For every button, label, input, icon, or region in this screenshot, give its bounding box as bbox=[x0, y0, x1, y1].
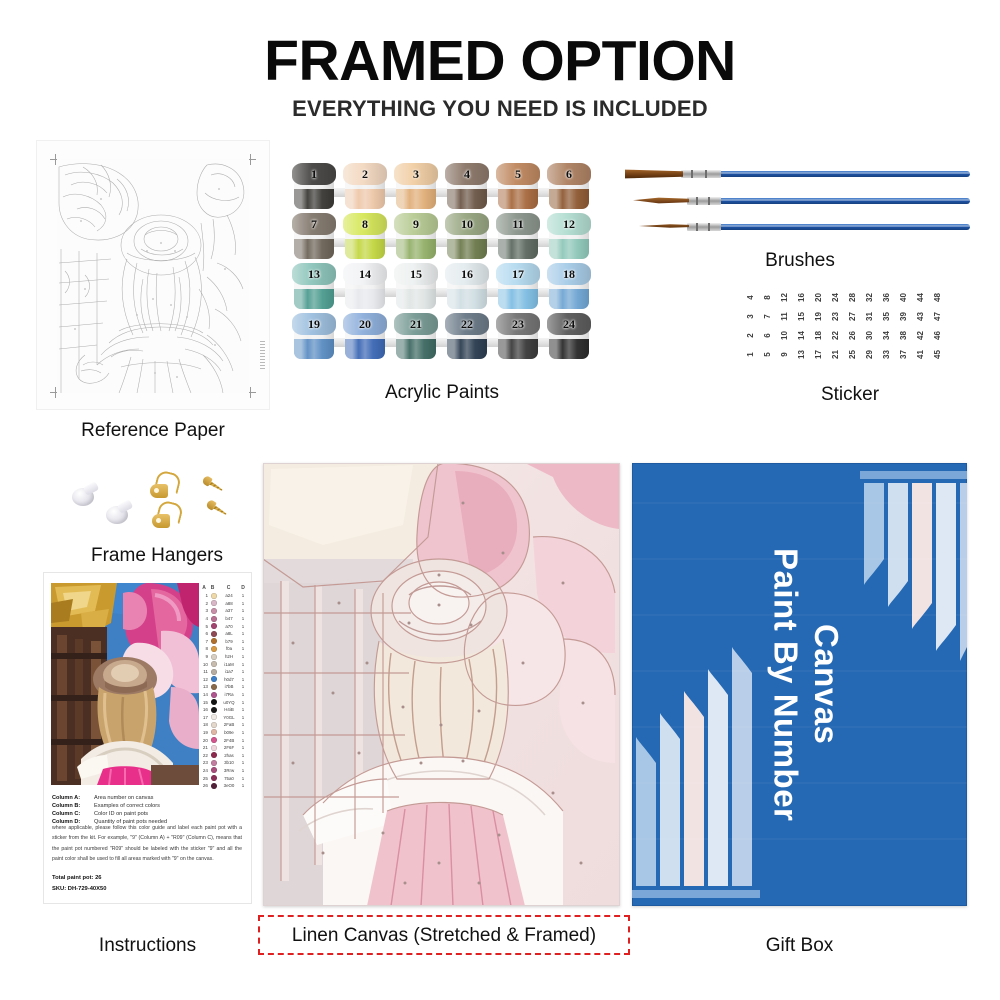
paint-pot-paint bbox=[294, 239, 334, 259]
instructions-reference-photo bbox=[51, 583, 199, 785]
sticker-caption: Sticker bbox=[790, 384, 910, 406]
paint-pot-paint bbox=[396, 189, 436, 209]
legend-row: 16H4iB1 bbox=[200, 706, 246, 714]
paint-pot-strip bbox=[296, 338, 588, 347]
paint-pot-number: 9 bbox=[394, 213, 438, 235]
legend-color-id: u0YQ bbox=[218, 700, 240, 705]
legend-col-a-header: A bbox=[200, 585, 208, 591]
infographic-canvas: FRAMED OPTION EVERYTHING YOU NEED IS INC… bbox=[0, 0, 1000, 1000]
legend-area-number: 9 bbox=[200, 654, 209, 659]
legend-row: 5a701 bbox=[200, 622, 246, 630]
page-subtitle: EVERYTHING YOU NEED IS INCLUDED bbox=[0, 96, 1000, 122]
legend-row: 14i7Ra1 bbox=[200, 691, 246, 699]
legend-quantity: 1 bbox=[240, 631, 246, 636]
legend-swatch-cell bbox=[209, 783, 218, 789]
paint-pot-paint bbox=[345, 289, 385, 309]
sticker-column: 5678 bbox=[759, 288, 776, 364]
sticker-column: 1234 bbox=[742, 288, 759, 364]
legend-color-id: a24 bbox=[218, 593, 240, 598]
legend-swatch-cell bbox=[209, 752, 218, 758]
paint-pot-strip bbox=[296, 188, 588, 197]
legend-area-number: 5 bbox=[200, 624, 209, 629]
paint-pot-20: 20 bbox=[343, 313, 387, 361]
paint-pot-paint bbox=[549, 339, 589, 359]
paint-pot-number: 21 bbox=[394, 313, 438, 335]
legend-swatch-cell bbox=[209, 729, 218, 735]
paint-pot-8: 8 bbox=[343, 213, 387, 261]
legend-row: 4b471 bbox=[200, 615, 246, 623]
paint-pot-row: 131415161718 bbox=[292, 263, 592, 313]
legend-quantity: 1 bbox=[240, 646, 246, 651]
legend-color-id: 75a0 bbox=[218, 776, 240, 781]
reference-sheet-code bbox=[260, 341, 265, 371]
legend-color-id: Y0GL bbox=[218, 715, 240, 720]
legend-row: 243Rrw1 bbox=[200, 767, 246, 775]
wall-plug bbox=[72, 484, 98, 506]
legend-row: 222has1 bbox=[200, 751, 246, 759]
brush-round-fine bbox=[625, 221, 970, 233]
paint-pot-number: 24 bbox=[547, 313, 591, 335]
legend-swatch-cell bbox=[209, 737, 218, 743]
legend-color-id: h0d7 bbox=[218, 677, 240, 682]
legend-quantity: 1 bbox=[240, 669, 246, 674]
paint-pot-number: 6 bbox=[547, 163, 591, 185]
legend-swatch-cell bbox=[209, 745, 218, 751]
legend-color-swatch bbox=[211, 707, 217, 713]
legend-color-swatch bbox=[211, 638, 217, 644]
paint-pot-15: 15 bbox=[394, 263, 438, 311]
screw bbox=[201, 475, 224, 494]
paint-pot-strip bbox=[296, 288, 588, 297]
legend-row: 263eO01 bbox=[200, 782, 246, 790]
paint-pot-17: 17 bbox=[496, 263, 540, 311]
legend-color-swatch bbox=[211, 623, 217, 629]
legend-color-id: 2FaB bbox=[218, 722, 240, 727]
legend-quantity: 1 bbox=[240, 745, 246, 750]
paint-pot-10: 10 bbox=[445, 213, 489, 261]
total-paint-pots: Total paint pot: 26 bbox=[52, 873, 242, 884]
paint-pot-paint bbox=[549, 239, 589, 259]
column-definition-label: Column C: bbox=[52, 811, 94, 817]
brush-round-medium bbox=[625, 195, 970, 207]
paint-pot-21: 21 bbox=[394, 313, 438, 361]
paint-pot-paint bbox=[345, 239, 385, 259]
legend-area-number: 6 bbox=[200, 631, 209, 636]
legend-row: 2a881 bbox=[200, 600, 246, 608]
legend-area-number: 2 bbox=[200, 601, 209, 606]
paint-pot-number: 5 bbox=[496, 163, 540, 185]
legend-area-number: 10 bbox=[200, 662, 209, 667]
legend-swatch-cell bbox=[209, 676, 218, 682]
legend-quantity: 1 bbox=[240, 654, 246, 659]
legend-color-id: 3eO0 bbox=[218, 783, 240, 788]
legend-quantity: 1 bbox=[240, 707, 246, 712]
legend-col-b-header: B bbox=[208, 585, 217, 591]
brushes-caption: Brushes bbox=[740, 250, 860, 272]
legend-area-number: 17 bbox=[200, 715, 209, 720]
sticker-column: 13141516 bbox=[793, 288, 810, 364]
paint-pot-9: 9 bbox=[394, 213, 438, 261]
legend-row: 182FaB1 bbox=[200, 721, 246, 729]
paint-pot-row: 123456 bbox=[292, 163, 592, 213]
paint-pot-number: 4 bbox=[445, 163, 489, 185]
legend-row: 19b09e1 bbox=[200, 729, 246, 737]
legend-color-swatch bbox=[211, 760, 217, 766]
legend-area-number: 20 bbox=[200, 738, 209, 743]
column-definition-text: Examples of correct colors bbox=[94, 803, 160, 809]
legend-area-number: 21 bbox=[200, 745, 209, 750]
legend-swatch-cell bbox=[209, 760, 218, 766]
legend-area-number: 23 bbox=[200, 760, 209, 765]
legend-row: 10i1aM1 bbox=[200, 660, 246, 668]
paint-pot-number: 16 bbox=[445, 263, 489, 285]
sticker-number: 47 bbox=[928, 308, 947, 325]
legend-color-swatch bbox=[211, 684, 217, 690]
legend-row: 12h0d71 bbox=[200, 676, 246, 684]
legend-color-swatch bbox=[211, 616, 217, 622]
paint-pot-paint bbox=[396, 239, 436, 259]
legend-area-number: 11 bbox=[200, 669, 209, 674]
sticker-number: 46 bbox=[928, 327, 947, 344]
legend-area-number: 8 bbox=[200, 646, 209, 651]
legend-color-swatch bbox=[211, 676, 217, 682]
acrylic-paints-group: 123456789101112131415161718192021222324 bbox=[292, 163, 592, 363]
paint-pot-paint bbox=[345, 189, 385, 209]
legend-quantity: 1 bbox=[240, 768, 246, 773]
legend-swatch-cell bbox=[209, 638, 218, 644]
instructions-sheet: A B C D 1a2412a8813a3714b4715a7016a8L17b… bbox=[44, 573, 251, 903]
legend-color-swatch bbox=[211, 767, 217, 773]
legend-color-swatch bbox=[211, 775, 217, 781]
sku-value: DH-729-40X50 bbox=[68, 886, 107, 892]
legend-color-id: i1a7 bbox=[218, 669, 240, 674]
legend-color-swatch bbox=[211, 608, 217, 614]
sticker-number: 48 bbox=[928, 289, 947, 306]
legend-swatch-cell bbox=[209, 654, 218, 660]
paint-pot-number: 23 bbox=[496, 313, 540, 335]
acrylic-paints-caption: Acrylic Paints bbox=[292, 382, 592, 404]
paint-pot-23: 23 bbox=[496, 313, 540, 361]
paint-pot-22: 22 bbox=[445, 313, 489, 361]
legend-quantity: 1 bbox=[240, 738, 246, 743]
sticker-column: 29303132 bbox=[861, 288, 878, 364]
sticker-column: 17181920 bbox=[810, 288, 827, 364]
legend-color-id: 2F4B bbox=[218, 738, 240, 743]
legend-row: 13i7bB1 bbox=[200, 683, 246, 691]
legend-color-id: 2F6F bbox=[218, 745, 240, 750]
paint-pot-number: 10 bbox=[445, 213, 489, 235]
paint-pot-5: 5 bbox=[496, 163, 540, 211]
paint-pot-1: 1 bbox=[292, 163, 336, 211]
gift-box-product: Canvas Paint By Number bbox=[632, 463, 967, 906]
legend-color-swatch bbox=[211, 692, 217, 698]
legend-color-id: H4iB bbox=[218, 707, 240, 712]
legend-color-swatch bbox=[211, 654, 217, 660]
paint-pot-number: 7 bbox=[292, 213, 336, 235]
sticker-column: 25262728 bbox=[844, 288, 861, 364]
paint-pot-3: 3 bbox=[394, 163, 438, 211]
paint-pot-paint bbox=[447, 239, 487, 259]
legend-color-id: 2has bbox=[218, 753, 240, 758]
legend-row: 212F6F1 bbox=[200, 744, 246, 752]
paint-pot-strip bbox=[296, 238, 588, 247]
paint-pot-number: 8 bbox=[343, 213, 387, 235]
legend-color-swatch bbox=[211, 783, 217, 789]
legend-swatch-cell bbox=[209, 646, 218, 652]
legend-color-swatch bbox=[211, 737, 217, 743]
paint-pot-paint bbox=[549, 189, 589, 209]
legend-color-swatch bbox=[211, 593, 217, 599]
linen-canvas-product bbox=[263, 463, 620, 906]
legend-swatch-cell bbox=[209, 767, 218, 773]
column-definition-row: Column C:Color ID on paint pots bbox=[52, 811, 244, 817]
legend-area-number: 25 bbox=[200, 776, 209, 781]
legend-area-number: 1 bbox=[200, 593, 209, 598]
paint-pot-paint bbox=[447, 189, 487, 209]
paint-pot-number: 12 bbox=[547, 213, 591, 235]
paint-pot-number: 3 bbox=[394, 163, 438, 185]
legend-color-swatch bbox=[211, 729, 217, 735]
legend-quantity: 1 bbox=[240, 608, 246, 613]
legend-quantity: 1 bbox=[240, 684, 246, 689]
paint-pot-24: 24 bbox=[547, 313, 591, 361]
crop-mark bbox=[250, 154, 251, 165]
crop-mark bbox=[55, 387, 56, 398]
legend-area-number: 26 bbox=[200, 783, 209, 788]
paint-pot-2: 2 bbox=[343, 163, 387, 211]
sticker-number: 45 bbox=[928, 346, 947, 363]
paint-pot-number: 15 bbox=[394, 263, 438, 285]
legend-swatch-cell bbox=[209, 714, 218, 720]
legend-row: 6a8L1 bbox=[200, 630, 246, 638]
legend-quantity: 1 bbox=[240, 624, 246, 629]
legend-swatch-cell bbox=[209, 692, 218, 698]
paint-pot-19: 19 bbox=[292, 313, 336, 361]
screw bbox=[205, 499, 228, 518]
legend-color-id: f0a bbox=[218, 646, 240, 651]
legend-swatch-cell bbox=[209, 616, 218, 622]
legend-quantity: 1 bbox=[240, 692, 246, 697]
paint-pot-number: 11 bbox=[496, 213, 540, 235]
paint-pot-number: 17 bbox=[496, 263, 540, 285]
legend-color-id: b79 bbox=[218, 639, 240, 644]
legend-color-id: 3Rrw bbox=[218, 768, 240, 773]
paint-pot-paint bbox=[294, 289, 334, 309]
sticker-column: 41424344 bbox=[912, 288, 929, 364]
legend-color-swatch bbox=[211, 714, 217, 720]
legend-header-row: A B C D bbox=[200, 583, 246, 592]
legend-color-swatch bbox=[211, 722, 217, 728]
legend-row: 15u0YQ1 bbox=[200, 698, 246, 706]
legend-color-swatch bbox=[211, 600, 217, 606]
paint-pot-11: 11 bbox=[496, 213, 540, 261]
legend-color-id: a8L bbox=[218, 631, 240, 636]
legend-area-number: 4 bbox=[200, 616, 209, 621]
legend-quantity: 1 bbox=[240, 760, 246, 765]
legend-swatch-cell bbox=[209, 775, 218, 781]
column-definition-text: Color ID on paint pots bbox=[94, 811, 148, 817]
instructions-color-legend: A B C D 1a2412a8813a3714b4715a7016a8L17b… bbox=[200, 583, 246, 789]
legend-swatch-cell bbox=[209, 593, 218, 599]
column-definition-text: Area number on canvas bbox=[94, 795, 153, 801]
frame-hangers-group bbox=[72, 470, 242, 536]
crop-mark bbox=[250, 387, 251, 398]
legend-quantity: 1 bbox=[240, 639, 246, 644]
legend-row: 11i1a71 bbox=[200, 668, 246, 676]
legend-quantity: 1 bbox=[240, 662, 246, 667]
legend-swatch-cell bbox=[209, 684, 218, 690]
legend-area-number: 15 bbox=[200, 700, 209, 705]
column-definition-row: Column B:Examples of correct colors bbox=[52, 803, 244, 809]
paint-pot-number: 19 bbox=[292, 313, 336, 335]
legend-color-id: a88 bbox=[218, 601, 240, 606]
sticker-column: 37383940 bbox=[895, 288, 912, 364]
legend-quantity: 1 bbox=[240, 722, 246, 727]
legend-swatch-cell bbox=[209, 722, 218, 728]
legend-area-number: 16 bbox=[200, 707, 209, 712]
legend-swatch-cell bbox=[209, 707, 218, 713]
legend-color-swatch bbox=[211, 752, 217, 758]
paint-pot-12: 12 bbox=[547, 213, 591, 261]
legend-color-id: i7bB bbox=[218, 684, 240, 689]
d-ring-hanger bbox=[152, 502, 182, 528]
legend-color-id: b09e bbox=[218, 730, 240, 735]
legend-color-id: h2H bbox=[218, 654, 240, 659]
legend-color-id: a37 bbox=[218, 608, 240, 613]
legend-area-number: 14 bbox=[200, 692, 209, 697]
legend-swatch-cell bbox=[209, 661, 218, 667]
instructions-paragraph: where applicable, please follow this col… bbox=[52, 823, 242, 865]
sticker-sheet: 1234567891011121314151617181920212223242… bbox=[742, 288, 947, 366]
legend-color-swatch bbox=[211, 631, 217, 637]
paint-pot-paint bbox=[396, 339, 436, 359]
paint-pot-paint bbox=[549, 289, 589, 309]
gift-box-caption: Gift Box bbox=[632, 935, 967, 957]
reference-paper-sheet bbox=[37, 141, 269, 409]
column-definition-row: Column A:Area number on canvas bbox=[52, 795, 244, 801]
reference-paper-caption: Reference Paper bbox=[37, 420, 269, 442]
linen-canvas-caption: Linen Canvas (Stretched & Framed) bbox=[258, 925, 630, 947]
paint-pot-paint bbox=[447, 339, 487, 359]
legend-quantity: 1 bbox=[240, 700, 246, 705]
legend-color-id: i7Ra bbox=[218, 692, 240, 697]
legend-quantity: 1 bbox=[240, 783, 246, 788]
paint-pot-4: 4 bbox=[445, 163, 489, 211]
legend-area-number: 12 bbox=[200, 677, 209, 682]
d-ring-hanger bbox=[150, 472, 180, 498]
paint-pot-number: 2 bbox=[343, 163, 387, 185]
legend-row: 3a371 bbox=[200, 607, 246, 615]
legend-area-number: 24 bbox=[200, 768, 209, 773]
legend-color-swatch bbox=[211, 646, 217, 652]
paint-pot-row: 192021222324 bbox=[292, 313, 592, 363]
legend-quantity: 1 bbox=[240, 753, 246, 758]
paint-pot-paint bbox=[498, 239, 538, 259]
legend-col-d-header: D bbox=[240, 585, 246, 591]
paint-pot-16: 16 bbox=[445, 263, 489, 311]
paint-pot-number: 22 bbox=[445, 313, 489, 335]
legend-row: 2575a01 bbox=[200, 774, 246, 782]
legend-color-id: a70 bbox=[218, 624, 240, 629]
frame-hangers-caption: Frame Hangers bbox=[62, 545, 252, 567]
legend-area-number: 19 bbox=[200, 730, 209, 735]
paint-pot-paint bbox=[345, 339, 385, 359]
paint-pot-number: 13 bbox=[292, 263, 336, 285]
legend-row: 7b791 bbox=[200, 638, 246, 646]
legend-color-id: b47 bbox=[218, 616, 240, 621]
column-definition-label: Column A: bbox=[52, 795, 94, 801]
sticker-column: 21222324 bbox=[827, 288, 844, 364]
legend-col-c-header: C bbox=[217, 585, 240, 591]
legend-swatch-cell bbox=[209, 623, 218, 629]
legend-color-swatch bbox=[211, 745, 217, 751]
legend-row: 202F4B1 bbox=[200, 736, 246, 744]
paint-pot-6: 6 bbox=[547, 163, 591, 211]
legend-quantity: 1 bbox=[240, 730, 246, 735]
legend-rows: 1a2412a8813a3714b4715a7016a8L17b7918f0a1… bbox=[200, 592, 246, 789]
sticker-column: 9101112 bbox=[776, 288, 793, 364]
sku-label: SKU: bbox=[52, 886, 66, 892]
crop-mark bbox=[55, 154, 56, 165]
paint-pot-paint bbox=[396, 289, 436, 309]
legend-quantity: 1 bbox=[240, 616, 246, 621]
paint-pot-paint bbox=[447, 289, 487, 309]
sticker-column: 45464748 bbox=[929, 288, 946, 364]
legend-swatch-cell bbox=[209, 631, 218, 637]
column-definition-label: Column B: bbox=[52, 803, 94, 809]
brushes-group bbox=[625, 168, 970, 246]
legend-row: 233b101 bbox=[200, 759, 246, 767]
paint-pot-7: 7 bbox=[292, 213, 336, 261]
legend-color-id: i1aM bbox=[218, 662, 240, 667]
paint-pot-14: 14 bbox=[343, 263, 387, 311]
paint-pot-paint bbox=[294, 339, 334, 359]
wall-plug bbox=[106, 502, 132, 524]
paint-pot-number: 1 bbox=[292, 163, 336, 185]
legend-quantity: 1 bbox=[240, 776, 246, 781]
reference-line-art bbox=[57, 159, 249, 393]
legend-swatch-cell bbox=[209, 600, 218, 606]
legend-swatch-cell bbox=[209, 608, 218, 614]
legend-row: 9h2H1 bbox=[200, 653, 246, 661]
sticker-number-grid: 1234567891011121314151617181920212223242… bbox=[742, 288, 946, 364]
legend-row: 8f0a1 bbox=[200, 645, 246, 653]
paint-pot-row: 789101112 bbox=[292, 213, 592, 263]
legend-color-id: 3b10 bbox=[218, 760, 240, 765]
paint-pot-paint bbox=[498, 289, 538, 309]
legend-quantity: 1 bbox=[240, 593, 246, 598]
legend-row: 17Y0GL1 bbox=[200, 714, 246, 722]
paint-pot-number: 14 bbox=[343, 263, 387, 285]
legend-area-number: 7 bbox=[200, 639, 209, 644]
legend-quantity: 1 bbox=[240, 677, 246, 682]
instructions-caption: Instructions bbox=[40, 935, 255, 957]
instructions-footer: Total paint pot: 26 SKU: DH-729-40X50 bbox=[52, 873, 242, 895]
paint-pot-paint bbox=[498, 339, 538, 359]
paint-pot-13: 13 bbox=[292, 263, 336, 311]
paint-pot-paint bbox=[498, 189, 538, 209]
legend-area-number: 13 bbox=[200, 684, 209, 689]
page-title: FRAMED OPTION bbox=[0, 32, 1000, 92]
sku: SKU: DH-729-40X50 bbox=[52, 884, 242, 895]
legend-quantity: 1 bbox=[240, 601, 246, 606]
legend-color-swatch bbox=[211, 661, 217, 667]
paint-pot-paint bbox=[294, 189, 334, 209]
legend-color-swatch bbox=[211, 699, 217, 705]
legend-swatch-cell bbox=[209, 669, 218, 675]
paint-pot-18: 18 bbox=[547, 263, 591, 311]
legend-area-number: 18 bbox=[200, 722, 209, 727]
